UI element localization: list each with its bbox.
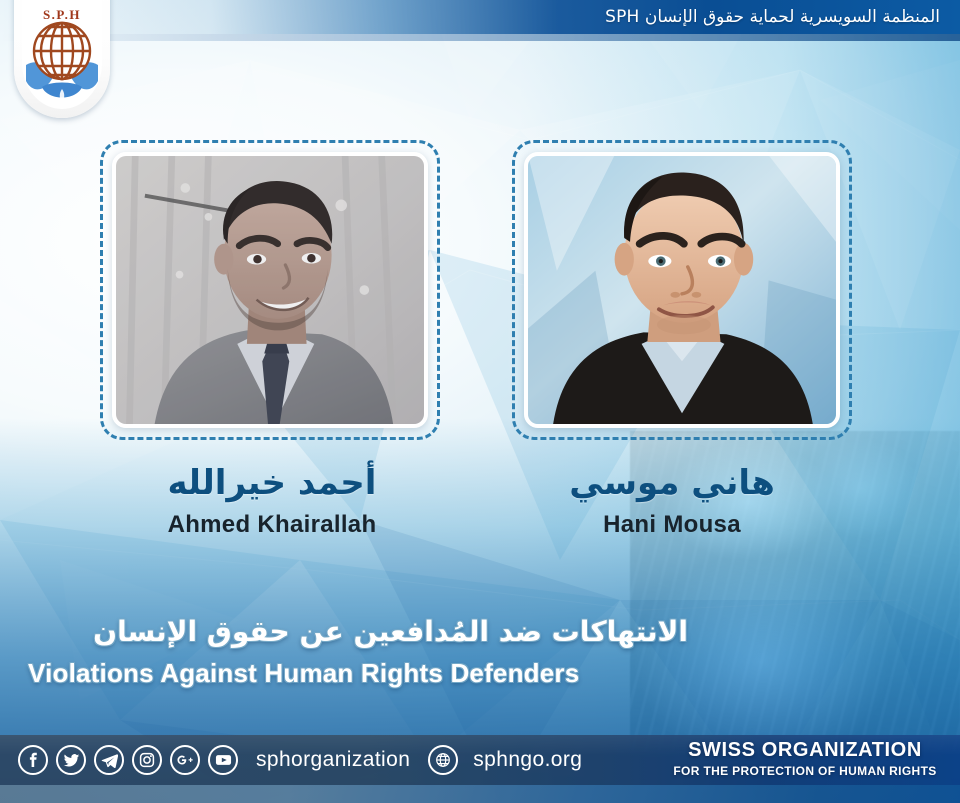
headline-arabic: الانتهاكات ضد المُدافعين عن حقوق الإنسان xyxy=(28,616,688,648)
portrait-hani-mousa xyxy=(528,156,836,424)
person-1-name-arabic: أحمد خيرالله xyxy=(82,466,462,502)
facebook-icon[interactable] xyxy=(18,745,48,775)
youtube-icon[interactable] xyxy=(208,745,238,775)
person-1-name-block: أحمد خيرالله Ahmed Khairallah xyxy=(82,466,462,539)
poster: المنظمة السويسرية لحماية حقوق الإنسان SP… xyxy=(0,0,960,803)
header-strip xyxy=(0,34,960,41)
person-1-name-english: Ahmed Khairallah xyxy=(82,511,462,539)
photo-frame-1 xyxy=(100,140,440,440)
social-handle[interactable]: sphorganization xyxy=(256,748,410,772)
person-2-name-english: Hani Mousa xyxy=(482,511,862,539)
footer: sphorganization sphngo.org SWISS ORGANIZ… xyxy=(0,735,960,803)
brand-block: SWISS ORGANIZATION FOR THE PROTECTION OF… xyxy=(660,739,950,778)
header-bar: المنظمة السويسرية لحماية حقوق الإنسان SP… xyxy=(0,0,960,34)
google-plus-icon[interactable] xyxy=(170,745,200,775)
footer-underbar xyxy=(0,785,960,803)
globe-icon[interactable] xyxy=(428,745,458,775)
photo-inner-1 xyxy=(112,152,428,428)
website-url[interactable]: sphngo.org xyxy=(473,748,582,772)
header-title: المنظمة السويسرية لحماية حقوق الإنسان SP… xyxy=(605,7,960,27)
headline-english: Violations Against Human Rights Defender… xyxy=(28,658,688,689)
person-2-name-arabic: هاني موسي xyxy=(482,466,862,502)
sph-shield-logo: S.P.H xyxy=(14,0,110,118)
instagram-icon[interactable] xyxy=(132,745,162,775)
person-2-name-block: هاني موسي Hani Mousa xyxy=(482,466,862,539)
brand-line-1: SWISS ORGANIZATION xyxy=(660,739,950,762)
telegram-icon[interactable] xyxy=(94,745,124,775)
photo-frame-2 xyxy=(512,140,852,440)
names-row: أحمد خيرالله Ahmed Khairallah هاني موسي … xyxy=(0,466,960,566)
headline-block: الانتهاكات ضد المُدافعين عن حقوق الإنسان… xyxy=(28,616,688,689)
twitter-icon[interactable] xyxy=(56,745,86,775)
portrait-ahmed-khairallah xyxy=(116,156,424,424)
brand-line-2: FOR THE PROTECTION OF HUMAN RIGHTS xyxy=(660,764,950,778)
photo-inner-2 xyxy=(524,152,840,428)
social-links: sphorganization sphngo.org xyxy=(18,741,582,779)
svg-text:S.P.H: S.P.H xyxy=(43,7,81,22)
